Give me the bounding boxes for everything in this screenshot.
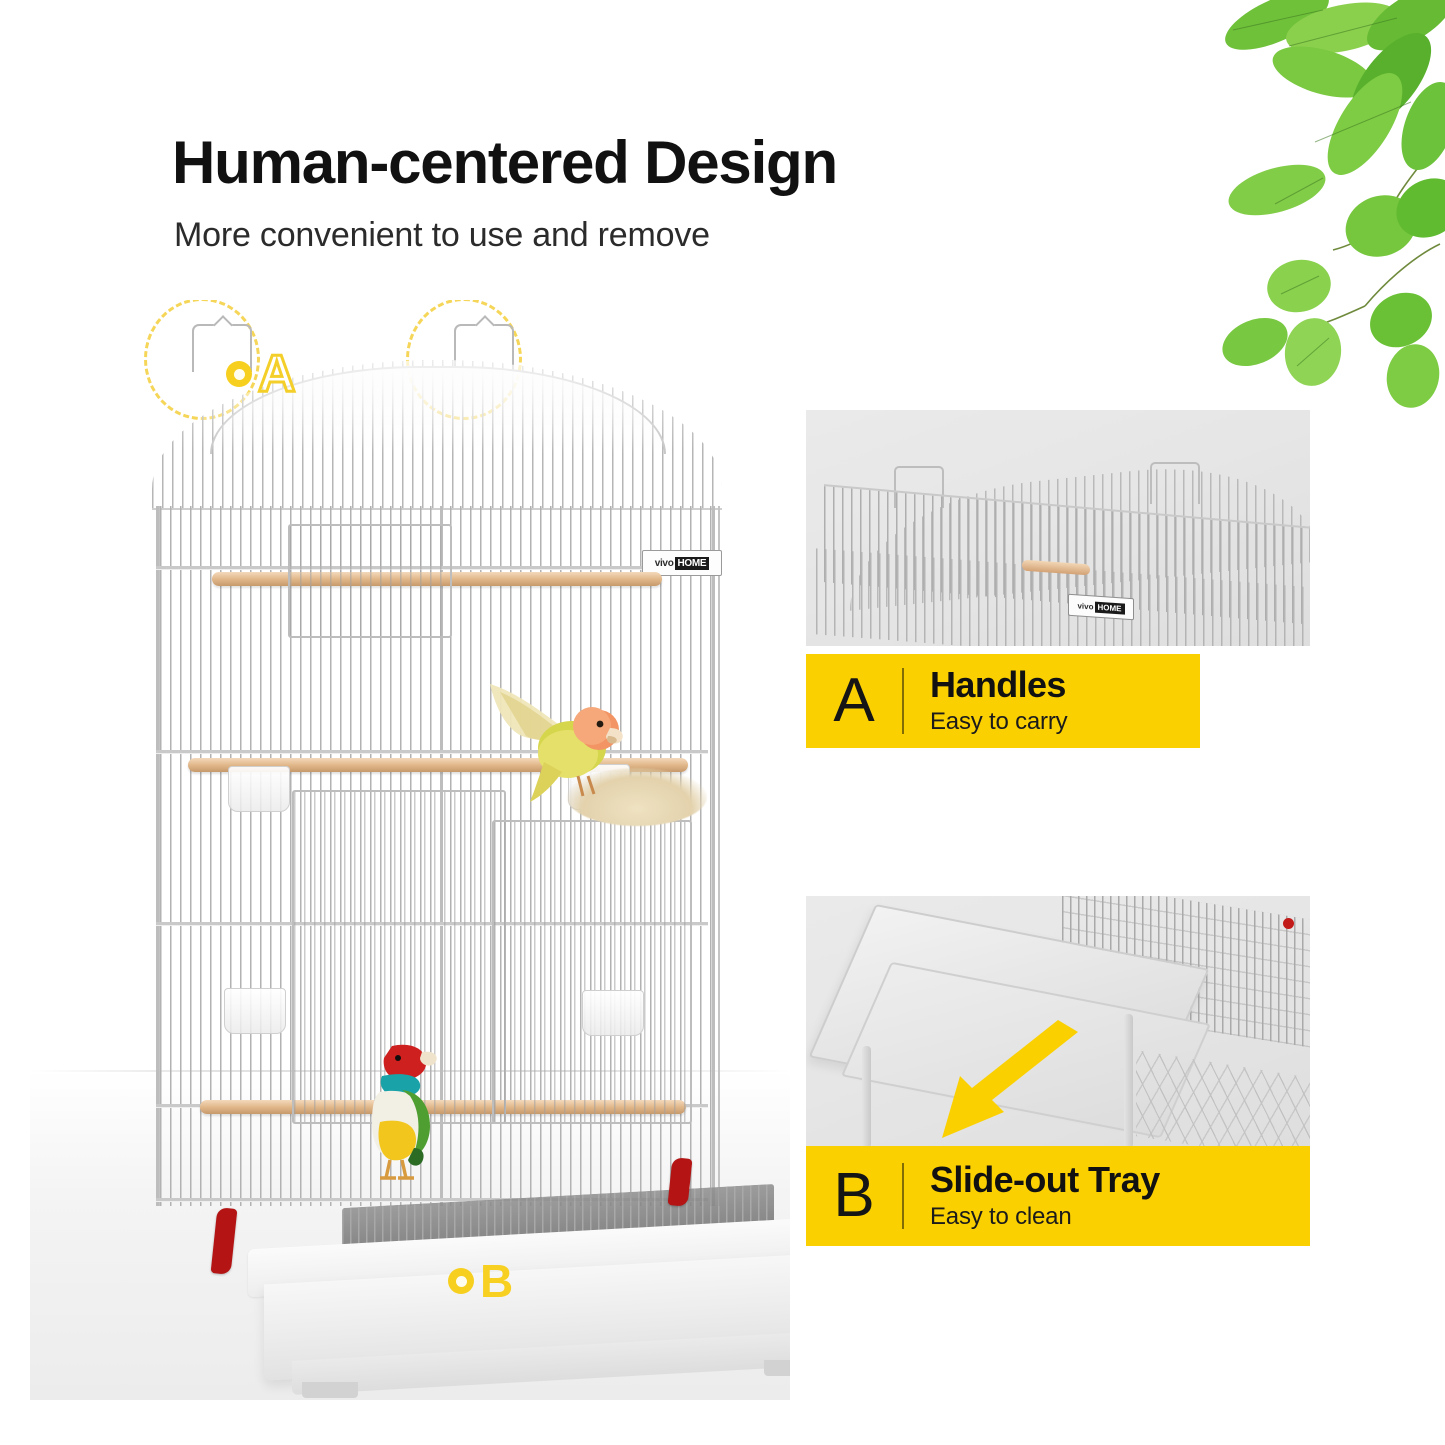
callout-b-subtitle: Easy to clean [930,1203,1160,1231]
callout-b-title: Slide-out Tray [930,1161,1160,1199]
base-foot-right [764,1360,790,1376]
inset-b-stand-leg-left [862,1046,871,1148]
callout-b-divider [902,1163,904,1229]
feeder-cup-left-lower [224,988,286,1034]
tray-lock-clip-left[interactable] [211,1207,238,1275]
callout-a-letter: A [806,670,902,732]
inset-b-stand-leg-right [1124,1014,1133,1148]
callout-a-divider [902,668,904,734]
callout-a-badge: A Handles Easy to carry [806,654,1200,748]
callout-b-text: Slide-out Tray Easy to clean [904,1161,1160,1232]
callout-b-photo [806,896,1310,1148]
callout-b: B Slide-out Tray Easy to clean [806,896,1310,1256]
cage-corner-right [712,506,715,1206]
infographic-page: Human-centered Design More convenient to… [0,0,1445,1445]
marker-b: B [448,1258,513,1304]
callout-b-letter: B [806,1165,902,1227]
inset-a-brand-plate: vivo HOME [1068,594,1134,621]
brand-name-part2: HOME [675,557,710,570]
marker-a: A [226,348,296,400]
marker-a-dot [226,361,252,387]
feeder-cup-left-upper [228,766,290,812]
callout-a: vivo HOME A Handles Easy to carry [806,410,1310,746]
main-product-scene: vivo HOME [30,300,790,1400]
inset-a-brand-part1: vivo [1077,601,1093,611]
marker-a-letter: A [258,348,296,400]
marker-b-letter: B [480,1258,513,1304]
callout-a-photo: vivo HOME [806,410,1310,646]
cage-corner-left [156,506,159,1206]
callout-a-text: Handles Easy to carry [904,666,1067,737]
lovebird-illustration [482,678,632,808]
page-title: Human-centered Design [172,128,837,197]
base-foot-left [302,1382,358,1398]
marker-b-dot [448,1268,474,1294]
inset-b-red-knob [1283,918,1294,929]
feeder-cup-right-lower [582,990,644,1036]
slide-direction-arrow-icon [928,1020,1088,1140]
inset-b-storage-basket [1136,1050,1310,1148]
gouldian-finch-illustration [358,1036,450,1186]
inset-a-brand-part2: HOME [1095,601,1125,614]
green-leaves-icon [1215,0,1445,414]
callout-b-badge: B Slide-out Tray Easy to clean [806,1146,1310,1246]
cage-door-right[interactable] [492,820,692,1124]
cage-door-upper[interactable] [288,524,452,638]
bird-cage: vivo HOME [152,360,722,1290]
callout-a-title: Handles [930,666,1067,704]
callout-a-subtitle: Easy to carry [930,708,1067,736]
page-subtitle: More convenient to use and remove [174,216,710,255]
brand-name-part1: vivo [655,558,674,569]
